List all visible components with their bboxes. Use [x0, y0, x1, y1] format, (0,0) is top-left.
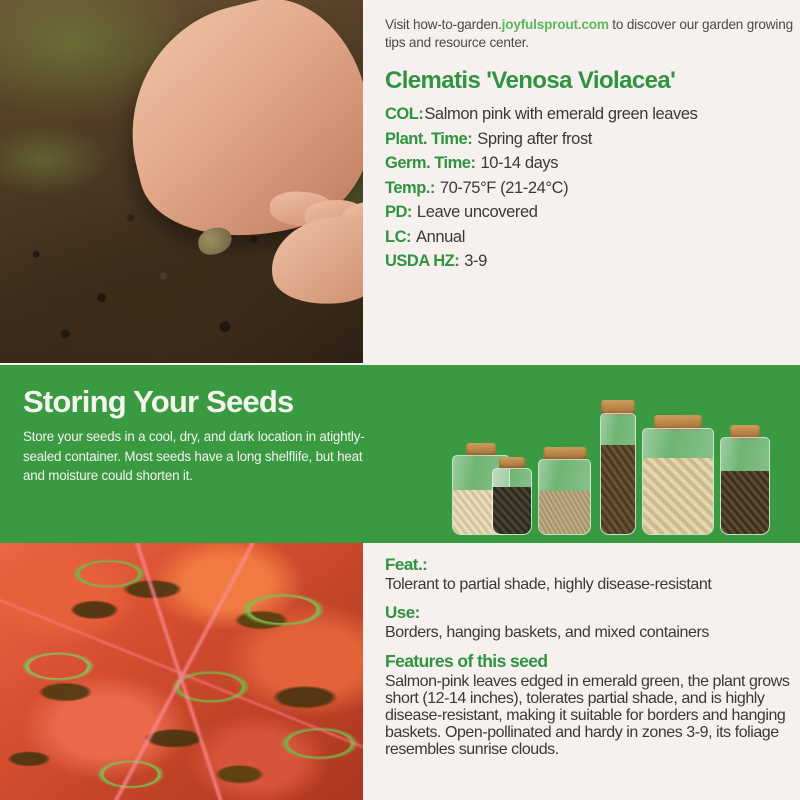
spec-row-col: COL: Salmon pink with emerald green leav… [385, 105, 800, 124]
spec-label-plant-time: Plant. Time: [385, 130, 472, 149]
seed-fill [493, 487, 531, 534]
jar-dark-seeds [492, 457, 532, 535]
use-label: Use: [385, 603, 794, 623]
spec-label-germ-time: Germ. Time: [385, 154, 475, 173]
feat-block: Feat.: Tolerant to partial shade, highly… [385, 555, 794, 594]
seed-fill [601, 445, 635, 534]
jar-large-pumpkin [642, 415, 714, 535]
banner-title: Storing Your Seeds [23, 385, 373, 418]
seed-description-block: Features of this seed Salmon-pink leaves… [385, 651, 794, 759]
top-section: Visit how-to-garden.joyfulsprout.com to … [0, 0, 800, 365]
seed-packet: Visit how-to-garden.joyfulsprout.com to … [0, 0, 800, 800]
spec-value-pd: Leave uncovered [417, 203, 538, 222]
spec-row-plant-time: Plant. Time: Spring after frost [385, 130, 800, 149]
spec-row-temp: Temp.: 70-75°F (21-24°C) [385, 179, 800, 198]
seed-features-heading: Features of this seed [385, 651, 794, 672]
photo-coleus-leaves [0, 543, 363, 800]
spec-value-germ-time: 10-14 days [480, 154, 558, 173]
visit-website-line: Visit how-to-garden.joyfulsprout.com to … [385, 16, 800, 53]
spec-row-pd: PD: Leave uncovered [385, 203, 800, 222]
spec-value-temp: 70-75°F (21-24°C) [440, 179, 568, 198]
use-block: Use: Borders, hanging baskets, and mixed… [385, 603, 794, 642]
coleus-leaf-veins [0, 543, 363, 800]
visit-prefix: Visit how-to-garden. [385, 17, 502, 32]
seed-fill [643, 458, 713, 534]
glass-jar-body [492, 468, 532, 535]
plant-info-column: Visit how-to-garden.joyfulsprout.com to … [372, 0, 800, 365]
photo-sowing-seeds [0, 0, 363, 363]
specification-list: COL: Salmon pink with emerald green leav… [385, 105, 800, 271]
seed-jars-illustration [452, 375, 782, 535]
website-link[interactable]: joyfulsprout.com [502, 17, 609, 32]
glass-jar-body [720, 437, 770, 535]
jar-sand-seeds [538, 447, 591, 535]
glass-jar-body [538, 459, 591, 535]
spec-label-pd: PD: [385, 203, 412, 222]
use-value: Borders, hanging baskets, and mixed cont… [385, 624, 794, 642]
jar-tall-brown [600, 400, 636, 535]
seed-features-paragraph: Salmon-pink leaves edged in emerald gree… [385, 674, 794, 759]
spec-label-lc: LC: [385, 228, 411, 247]
banner-body-text: Store your seeds in a cool, dry, and dar… [23, 427, 373, 484]
spec-row-usda-hz: USDA HZ: 3-9 [385, 252, 800, 271]
spec-value-plant-time: Spring after frost [477, 130, 592, 149]
page-title: Clematis 'Venosa Violacea' [385, 68, 800, 94]
bottom-section: Feat.: Tolerant to partial shade, highly… [0, 543, 800, 800]
seed-fill [721, 471, 769, 534]
spec-value-usda-hz: 3-9 [464, 252, 487, 271]
spec-row-lc: LC: Annual [385, 228, 800, 247]
jar-sunflower [720, 425, 770, 535]
spec-label-usda-hz: USDA HZ: [385, 252, 459, 271]
glass-jar-body [642, 428, 714, 535]
spec-value-lc: Annual [416, 228, 465, 247]
spec-value-col: Salmon pink with emerald green leaves [424, 105, 697, 124]
glass-jar-body [600, 413, 636, 535]
seed-fill [539, 491, 590, 534]
storing-seeds-banner: Storing Your Seeds Store your seeds in a… [0, 365, 800, 543]
spec-label-col: COL: [385, 105, 423, 124]
spec-row-germ-time: Germ. Time: 10-14 days [385, 154, 800, 173]
spec-label-temp: Temp.: [385, 179, 435, 198]
features-column: Feat.: Tolerant to partial shade, highly… [372, 543, 800, 800]
feat-label: Feat.: [385, 555, 794, 575]
banner-text-block: Storing Your Seeds Store your seeds in a… [23, 385, 373, 485]
feat-value: Tolerant to partial shade, highly diseas… [385, 576, 794, 594]
